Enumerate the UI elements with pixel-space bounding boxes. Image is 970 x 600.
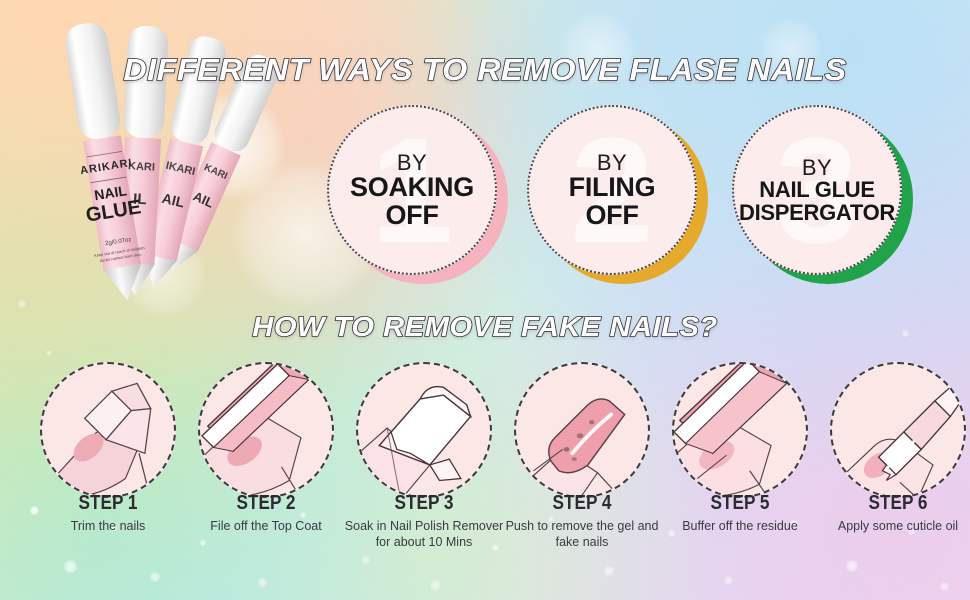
method-label-line2: OFF <box>585 202 638 230</box>
step-disc <box>356 362 492 498</box>
method-disc: 3 BY NAIL GLUE DISPERGATOR <box>732 105 902 275</box>
step-description: Trim the nails <box>23 518 193 534</box>
method-prefix: BY <box>802 156 832 179</box>
method-label-line2: OFF <box>385 202 438 230</box>
step-label-1: STEP 1 Trim the nails <box>23 492 193 534</box>
step-label-2: STEP 2 File off the Top Coat <box>181 492 351 534</box>
step-heading: STEP 3 <box>351 492 497 515</box>
step-disc <box>672 362 808 498</box>
page-title-secondary: HOW TO REMOVE FAKE NAILS? <box>252 311 717 343</box>
step-label-4: STEP 4 Push to remove the gel and fake n… <box>497 492 667 550</box>
method-disc: 1 BY SOAKING OFF <box>327 105 497 275</box>
oil-brush-icon <box>832 364 964 496</box>
step-label-3: STEP 3 Soak in Nail Polish Remover for a… <box>339 492 509 550</box>
step-description: Apply some cuticle oil <box>813 518 970 534</box>
method-card-filing-off[interactable]: 2 BY FILING OFF <box>527 105 697 275</box>
method-card-soaking-off[interactable]: 1 BY SOAKING OFF <box>327 105 497 275</box>
bokeh-dot <box>362 556 370 564</box>
step-circle-4[interactable] <box>514 362 650 498</box>
step-heading: STEP 5 <box>667 492 813 515</box>
step-disc <box>514 362 650 498</box>
nail-file-icon <box>200 364 332 496</box>
nail-clipper-icon <box>42 364 174 496</box>
step-heading: STEP 6 <box>825 492 970 515</box>
step-circle-6[interactable] <box>830 362 966 498</box>
method-label-line1: FILING <box>569 174 656 202</box>
method-disc: 2 BY FILING OFF <box>527 105 697 275</box>
bokeh-dot <box>18 300 26 308</box>
method-prefix: BY <box>397 151 427 174</box>
method-card-nail-glue-dispergator[interactable]: 3 BY NAIL GLUE DISPERGATOR <box>732 105 902 275</box>
step-circle-5[interactable] <box>672 362 808 498</box>
bokeh-dot <box>430 580 441 591</box>
bokeh-dot <box>940 582 949 591</box>
step-disc <box>830 362 966 498</box>
bokeh-dot <box>200 540 206 546</box>
bokeh-dot <box>258 578 267 587</box>
step-disc <box>198 362 334 498</box>
bokeh-dot <box>150 572 160 582</box>
step-circle-1[interactable] <box>40 362 176 498</box>
bokeh-dot <box>46 350 52 356</box>
method-label-line1: SOAKING <box>350 174 474 202</box>
bokeh-dot <box>724 576 733 585</box>
method-label-line2: DISPERGATOR <box>739 202 895 224</box>
step-label-6: STEP 6 Apply some cuticle oil <box>813 492 970 534</box>
method-prefix: BY <box>597 151 627 174</box>
foil-wrap-icon <box>358 364 490 496</box>
step-heading: STEP 4 <box>509 492 655 515</box>
cuticle-pusher-icon <box>516 364 648 496</box>
step-description: Buffer off the residue <box>655 518 825 534</box>
step-circle-2[interactable] <box>198 362 334 498</box>
step-circle-3[interactable] <box>356 362 492 498</box>
page-title-main: DIFFERENT WAYS TO REMOVE FLASE NAILS <box>123 52 846 88</box>
method-label-line1: NAIL GLUE <box>759 179 874 201</box>
buffer-block-icon <box>674 364 806 496</box>
step-description: Soak in Nail Polish Remover for about 10… <box>339 518 509 550</box>
bokeh-dot <box>64 560 77 573</box>
step-description: Push to remove the gel and fake nails <box>497 518 667 550</box>
step-heading: STEP 2 <box>193 492 339 515</box>
bokeh-dot <box>604 566 614 576</box>
bokeh-dot <box>902 330 909 337</box>
step-heading: STEP 1 <box>35 492 181 515</box>
step-disc <box>40 362 176 498</box>
step-description: File off the Top Coat <box>181 518 351 534</box>
bokeh-dot <box>846 560 858 572</box>
step-label-5: STEP 5 Buffer off the residue <box>655 492 825 534</box>
